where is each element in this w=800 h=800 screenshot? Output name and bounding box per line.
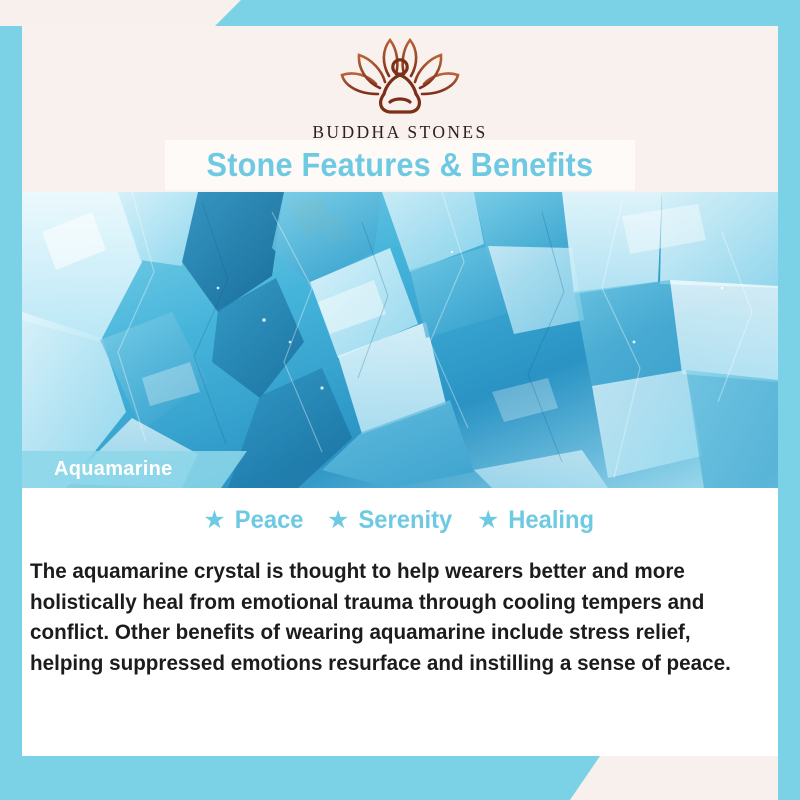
border-bar-right	[778, 0, 800, 800]
feature-item-serenity: ★ Serenity	[327, 506, 455, 535]
title-banner: Stone Features & Benefits	[165, 140, 635, 190]
stone-name: Aquamarine	[54, 458, 173, 481]
description-paragraph: The aquamarine crystal is thought to hel…	[30, 556, 740, 678]
border-bar-top	[215, 0, 800, 26]
border-bar-left	[0, 26, 22, 800]
star-icon: ★	[203, 508, 225, 533]
stone-name-banner: Aquamarine	[22, 451, 247, 488]
star-icon: ★	[477, 508, 499, 533]
crystal-photo	[22, 192, 778, 488]
feature-label: Serenity	[359, 506, 453, 535]
border-bar-bottom	[0, 756, 600, 800]
feature-item-peace: ★ Peace	[203, 506, 305, 535]
page-title: Stone Features & Benefits	[207, 146, 594, 184]
feature-item-healing: ★ Healing	[477, 506, 597, 535]
poster: BUDDHA STONES Stone Features & Benefits	[0, 0, 800, 800]
lotus-meditation-figure-icon	[334, 32, 466, 118]
feature-label: Healing	[509, 506, 595, 535]
crystal-photo-graphic	[22, 192, 778, 488]
feature-label: Peace	[234, 506, 303, 535]
brand-logo: BUDDHA STONES	[312, 32, 487, 143]
star-icon: ★	[327, 508, 349, 533]
feature-keyword-row: ★ Peace ★ Serenity ★ Healing	[22, 506, 778, 535]
